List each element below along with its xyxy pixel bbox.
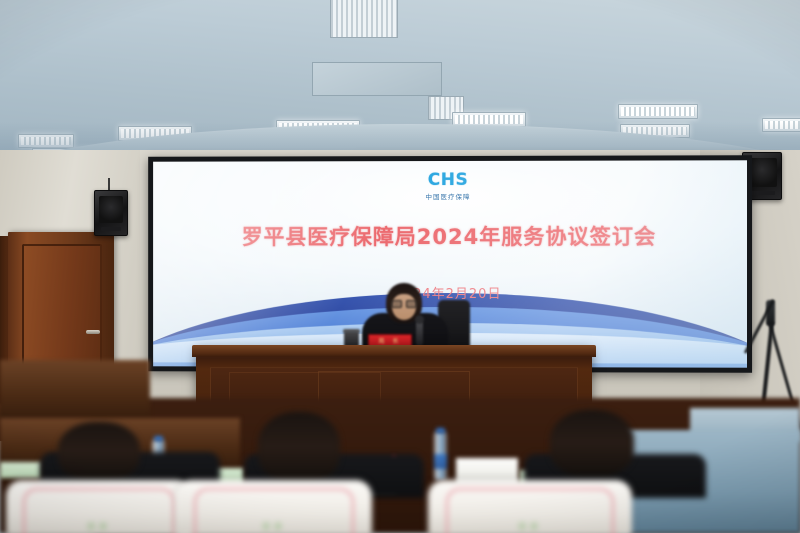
bottle-cap [154, 436, 163, 441]
attendee-right-head [550, 410, 634, 476]
chs-logo-mark: CHS [153, 171, 747, 189]
ceiling-light-panel [462, 130, 526, 144]
water-bottle [434, 432, 447, 480]
chs-logo-subtitle: 中国医疗保障 [153, 190, 747, 201]
air-vent [330, 0, 398, 38]
chair-embroidery: 健康 [6, 521, 192, 532]
slide-title: 罗平县医疗保障局2024年服务协议签订会 [153, 221, 747, 251]
chair-embroidery: 健康 [428, 521, 632, 532]
ceiling-access-panel [312, 62, 442, 96]
glasses-icon [391, 300, 417, 306]
ceiling-light-panel [276, 120, 360, 135]
chair-cover: 健康 [176, 480, 372, 533]
side-cabinet [0, 360, 150, 420]
attendee-center-head [258, 412, 340, 482]
door-handle[interactable] [86, 330, 100, 334]
conference-room-photo: CHS 中国医疗保障 罗平县医疗保障局2024年服务协议签订会 2024年2月2… [0, 0, 800, 533]
microphone-icon [416, 320, 423, 346]
attendee-left-head [58, 422, 140, 480]
podium-top-edge [192, 345, 596, 357]
chair-cover: 健康 [428, 480, 632, 533]
wall-speaker-icon [94, 190, 128, 236]
chair-cover: 健康 [6, 480, 192, 533]
ceiling-light-panel [620, 124, 690, 138]
chair-embroidery: 健康 [176, 521, 372, 532]
ceiling-light-panel [618, 104, 698, 119]
green-notepad [0, 462, 42, 478]
ceiling-light-panel [452, 112, 526, 127]
bottle-label [434, 454, 447, 469]
ceiling [0, 0, 800, 168]
ceiling-light-panel [762, 118, 800, 132]
chs-logo: CHS 中国医疗保障 [153, 171, 747, 201]
ceiling-light-panel [118, 126, 192, 141]
bottle-cap [436, 428, 445, 433]
ceiling-light-panel [18, 134, 74, 148]
